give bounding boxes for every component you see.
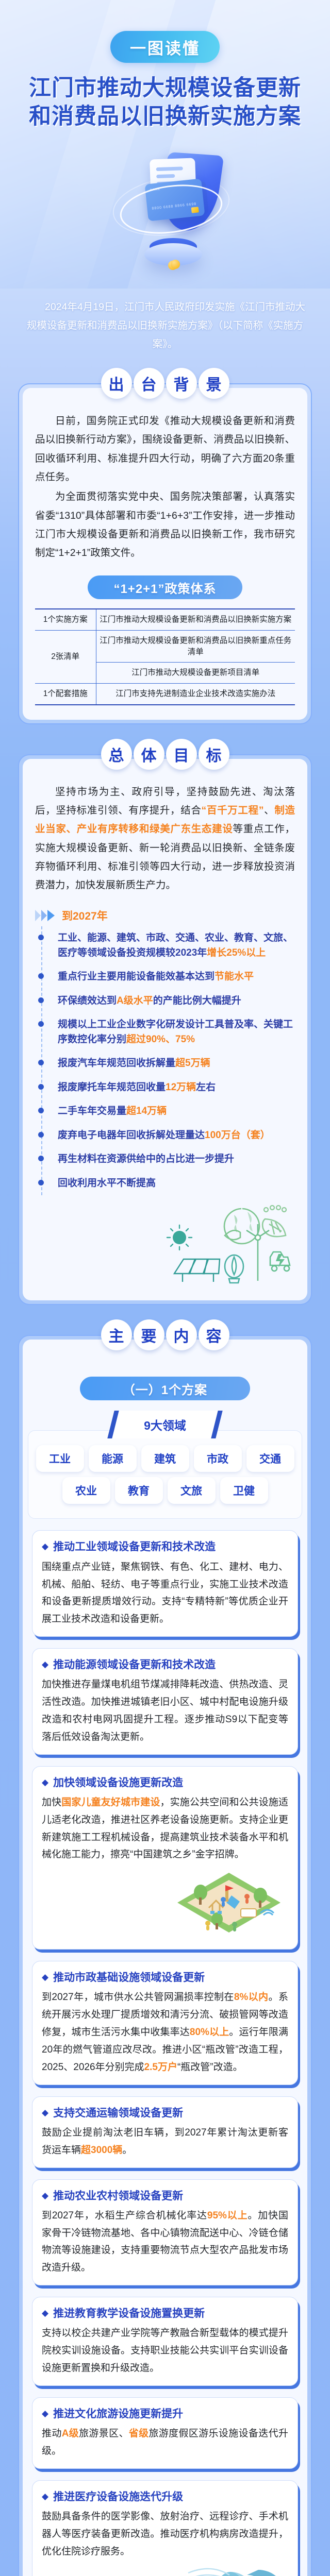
- body-text: 。: [122, 2145, 132, 2156]
- highlight-text: 超14万辆: [126, 1106, 167, 1116]
- task-card: 加快领域设备设施更新改造加快国家儿童友好城市建设，实施公共空间和公共设施适儿适老…: [32, 1766, 298, 1950]
- highlight-text: 8%以内: [234, 1992, 269, 2003]
- task-card: 支持交通运输领域设备更新鼓励企业提前淘汰老旧车辆，到2027年累计淘汰更新客货运…: [32, 2096, 298, 2168]
- nine-domains-banner: 9大领域: [111, 1411, 219, 1438]
- task-card-title: 推进教育教学设备设施置换更新: [42, 2307, 288, 2321]
- table-cell-value: 江门市推动大规模设备更新和消费品以旧换新重点任务清单: [96, 631, 295, 663]
- overall-goal-heading: 总 体 目 标: [18, 739, 312, 770]
- highlight-text: 80%以上: [190, 2027, 229, 2038]
- overall-goal-paragraph: 坚持市场为主、政府引导，坚持鼓励先进、淘汰落后，坚持标准引领、有序提升，结合“百…: [35, 783, 295, 895]
- heading-char: 主: [101, 1319, 132, 1350]
- body-text: 加快推进存量煤电机组节煤减排降耗改造、供热改造、灵活性改造。加快推进城镇老旧小区…: [42, 1679, 288, 1742]
- main-content-heading: 主 要 内 容: [18, 1319, 312, 1350]
- highlight-text: 增长25%以上: [207, 947, 266, 958]
- task-card-title: 加快领域设备设施更新改造: [42, 1776, 288, 1790]
- goal-list-item: 二手车年交易量超14万辆: [56, 1099, 295, 1124]
- goal-list-item: 报废摩托车年规范回收量12万辆左右: [56, 1076, 295, 1100]
- task-card-body: 支持以校企共建产业学院等产教融合新型载体的模式提升院校实训设施设备。支持职业技能…: [42, 2325, 288, 2377]
- body-text: 报废摩托车年规范回收量: [58, 1082, 166, 1093]
- background-section: 出 台 背 景 日前，国务院正式印发《推动大规模设备更新和消费品以旧换新行动方案…: [18, 383, 312, 724]
- body-text: 再生材料在资源供给中的占比进一步提升: [58, 1154, 234, 1164]
- page-title: 江门市推动大规模设备更新 和消费品以旧换新实施方案: [15, 74, 315, 130]
- task-card-body: 加快推进存量煤电机组节煤减排降耗改造、供热改造、灵活性改造。加快推进城镇老旧小区…: [42, 1676, 288, 1745]
- goal-list-item: 重点行业主要用能设备能效基本达到节能水平: [56, 965, 295, 989]
- body-text: 的产能比例大幅提升: [153, 995, 241, 1006]
- body-text: 到2027年，水稻生产综合机械化率达: [42, 2210, 207, 2221]
- heading-char: 目: [166, 739, 197, 770]
- heading-char: 背: [166, 368, 197, 399]
- triple-arrow-icon: [35, 910, 55, 921]
- task-card-title: 推动农业农村领域设备更新: [42, 2189, 288, 2204]
- background-card: 日前，国务院正式印发《推动大规模设备更新和消费品以旧换新行动方案》，围绕设备更新…: [18, 383, 312, 724]
- task-card-title: 推动工业领域设备更新和技术改造: [42, 1540, 288, 1554]
- task-card-title: 推动能源领域设备更新和技术改造: [42, 1658, 288, 1672]
- task-card: 推动能源领域设备更新和技术改造加快推进存量煤电机组节煤减排降耗改造、供热改造、灵…: [32, 1648, 298, 1755]
- body-text: 围绕重点产业链，聚焦钢铁、有色、化工、建材、电力、机械、船舶、轻纺、电子等重点行…: [42, 1562, 288, 1624]
- task-card-title: 推进文化旅游设施更新提升: [42, 2407, 288, 2421]
- domain-tag[interactable]: 市政: [194, 1445, 242, 1472]
- infographic-page: 一图读懂 江门市推动大规模设备更新 和消费品以旧换新实施方案 BANK 8800…: [0, 0, 330, 2576]
- bank-card-shield-illustration: BANK 8800 6688 8866 6698: [101, 147, 240, 286]
- domain-tag[interactable]: 能源: [89, 1445, 137, 1472]
- body-text: 推动: [42, 2428, 62, 2439]
- task-card: 推进教育教学设备设施置换更新支持以校企共建产业学院等产教融合新型载体的模式提升院…: [32, 2297, 298, 2386]
- task-card-body: 围绕重点产业链，聚焦钢铁、有色、化工、建材、电力、机械、船舶、轻纺、电子等重点行…: [42, 1558, 288, 1628]
- heading-char: 总: [101, 739, 132, 770]
- task-card: 推动工业领域设备更新和技术改造围绕重点产业链，聚焦钢铁、有色、化工、建材、电力、…: [32, 1530, 298, 1637]
- domains-row-2: 农业教育文旅卫健: [35, 1477, 295, 1504]
- body-text: 鼓励企业提前淘汰老旧车辆，到2027年累计淘汰更新客货运车辆: [42, 2127, 288, 2156]
- task-card-body: 加快国家儿童友好城市建设，实施公共空间和公共设施适儿适老化改造，推进社区养老设备…: [42, 1794, 288, 1863]
- goal-list-item: 规模以上工业企业数字化研发设计工具普及率、关键工序数控化率分别超过90%、75%: [56, 1013, 295, 1052]
- body-text: 环保绩效达到: [58, 995, 117, 1006]
- green-energy-icon: [164, 1204, 293, 1286]
- task-card-title: 支持交通运输领域设备更新: [42, 2106, 288, 2121]
- heading-char: 出: [101, 368, 132, 399]
- table-cell-key: 1个配套措施: [35, 684, 96, 705]
- domains-row-1: 工业能源建筑市政交通: [35, 1445, 295, 1472]
- highlight-text: A级水平: [117, 995, 153, 1006]
- table-cell-key: 1个实施方案: [35, 609, 96, 630]
- milestone-header: 到2027年: [35, 908, 295, 923]
- coins-icon: [168, 260, 180, 268]
- task-card-body: 到2027年，水稻生产综合机械化率达95%以上。加快国家骨干冷链物流基地、各中心…: [42, 2207, 288, 2277]
- highlight-text: 节能水平: [214, 971, 254, 982]
- heading-char: 内: [166, 1319, 197, 1350]
- body-text: 二手车年交易量: [58, 1106, 126, 1116]
- domain-tag[interactable]: 交通: [246, 1445, 294, 1472]
- domains-box: 工业能源建筑市政交通 农业教育文旅卫健: [28, 1430, 302, 1519]
- task-card-illustration: [42, 1863, 288, 1941]
- eco-illustration: [35, 1198, 295, 1286]
- body-text: “瓶改管”改造。: [177, 2062, 243, 2073]
- table-cell-value: 江门市推动大规模设备更新项目清单: [96, 663, 295, 684]
- goal-list-item: 工业、能源、建筑、市政、交通、农业、教育、文旅、医疗等领域设备投资规模较2023…: [56, 926, 295, 965]
- task-card-body: 鼓励具备条件的医学影像、放射治疗、远程诊疗、手术机器人等医疗装备更新改造。推动医…: [42, 2508, 288, 2560]
- read-in-one-image-badge: 一图读懂: [110, 31, 220, 63]
- body-text: 支持以校企共建产业学院等产教融合新型载体的模式提升院校实训设施设备。支持职业技能…: [42, 2328, 288, 2374]
- task-card-body: 鼓励企业提前淘汰老旧车辆，到2027年累计淘汰更新客货运车辆超3000辆。: [42, 2124, 288, 2159]
- highlight-text: 超过90%、75%: [126, 1034, 195, 1045]
- body-text: 废弃电子电器年回收拆解处理量达: [58, 1130, 205, 1141]
- heading-char: 体: [134, 739, 164, 770]
- task-card: 推进文化旅游设施更新提升推动A级旅游景区、省级旅游度假区游乐设施设备迭代升级。: [32, 2397, 298, 2469]
- highlight-text: A级: [62, 2428, 79, 2439]
- domain-tag[interactable]: 卫健: [220, 1477, 268, 1504]
- domain-tag[interactable]: 建筑: [141, 1445, 189, 1472]
- highlight-text: 省级: [129, 2428, 149, 2439]
- body-text: 报废汽车年规范回收拆解量: [58, 1058, 175, 1069]
- body-text: 左右: [196, 1082, 216, 1093]
- background-paragraph: 为全面贯彻落实党中央、国务院决策部署，认真落实省委“1310”具体部署和市委“1…: [35, 487, 295, 562]
- task-card-body: 推动A级旅游景区、省级旅游度假区游乐设施设备迭代升级。: [42, 2425, 288, 2460]
- highlight-text: 国家儿童友好城市建设: [61, 1797, 160, 1808]
- task-card-body: 到2027年，城市供水公共管网漏损率控制在8%以内。系统开展污水处理厂提质增效和…: [42, 1989, 288, 2076]
- overall-goal-section: 总 体 目 标 坚持市场为主、政府引导，坚持鼓励先进、淘汰落后，坚持标准引领、有…: [18, 754, 312, 1306]
- table-row: 1个配套措施 江门市支持先进制造业企业技术改造实施办法: [35, 684, 295, 705]
- overall-goal-card: 坚持市场为主、政府引导，坚持鼓励先进、淘汰落后，坚持标准引领、有序提升，结合“百…: [18, 754, 312, 1306]
- highlight-text: 12万辆: [166, 1082, 196, 1093]
- body-text: 加快: [42, 1797, 61, 1808]
- goal-list-item: 回收利用水平不断提高: [56, 1172, 295, 1196]
- intro-paragraph: 2024年4月19日，江门市人民政府印发实施《江门市推动大规模设备更新和消费品以…: [21, 298, 309, 353]
- highlight-text: 2.5万户: [144, 2062, 177, 2073]
- domain-tag[interactable]: 工业: [36, 1445, 84, 1472]
- task-card: 推动市政基础设施领域设备更新到2027年，城市供水公共管网漏损率控制在8%以内。…: [32, 1961, 298, 2084]
- section-one-pill: （一）1个方案: [80, 1377, 250, 1400]
- nine-domains-label: 9大领域: [111, 1411, 219, 1438]
- table-row: 2张清单 江门市推动大规模设备更新和消费品以旧换新重点任务清单: [35, 631, 295, 663]
- policy-system-table: 1个实施方案 江门市推动大规模设备更新和消费品以旧换新实施方案 2张清单 江门市…: [35, 608, 295, 705]
- mri-scanner-icon: [170, 2557, 288, 2576]
- domain-tag[interactable]: 文旅: [168, 1477, 216, 1504]
- heading-char: 景: [199, 368, 229, 399]
- main-content-card: （一）1个方案 9大领域 工业能源建筑市政交通 农业教育文旅卫健 推动工业领域设…: [18, 1335, 312, 2576]
- task-cards-list: 推动工业领域设备更新和技术改造围绕重点产业链，聚焦钢铁、有色、化工、建材、电力、…: [28, 1530, 302, 2576]
- body-text: 旅游景区、: [79, 2428, 129, 2439]
- highlight-text: 超5万辆: [175, 1058, 210, 1069]
- heading-char: 要: [134, 1319, 164, 1350]
- page-title-line2: 和消费品以旧换新实施方案: [15, 103, 315, 131]
- domain-tag[interactable]: 农业: [62, 1477, 110, 1504]
- table-cell-key: 2张清单: [35, 631, 96, 684]
- goal-timeline-list: 工业、能源、建筑、市政、交通、农业、教育、文旅、医疗等领域设备投资规模较2023…: [41, 926, 295, 1195]
- domain-tag[interactable]: 教育: [115, 1477, 163, 1504]
- heading-char: 容: [199, 1319, 229, 1350]
- body-text: 、: [263, 805, 274, 816]
- background-paragraph: 日前，国务院正式印发《推动大规模设备更新和消费品以旧换新行动方案》，围绕设备更新…: [35, 412, 295, 486]
- goal-list-item: 环保绩效达到A级水平的产能比例大幅提升: [56, 989, 295, 1013]
- table-cell-value: 江门市支持先进制造业企业技术改造实施办法: [96, 684, 295, 705]
- background-heading: 出 台 背 景: [18, 368, 312, 399]
- heading-char: 标: [199, 739, 229, 770]
- heading-char: 台: [134, 368, 164, 399]
- hero-section: 一图读懂 江门市推动大规模设备更新 和消费品以旧换新实施方案 BANK 8800…: [0, 0, 330, 289]
- highlight-text: 超3000辆: [81, 2145, 122, 2156]
- page-title-line1: 江门市推动大规模设备更新: [15, 74, 315, 103]
- milestone-label: 到2027年: [62, 908, 108, 923]
- body-text: 鼓励具备条件的医学影像、放射治疗、远程诊疗、手术机器人等医疗装备更新改造。推动医…: [42, 2511, 288, 2557]
- body-text: 重点行业主要用能设备能效基本达到: [58, 971, 214, 982]
- playground-icon: [170, 1866, 288, 1943]
- task-card: 推动农业农村领域设备更新到2027年，水稻生产综合机械化率达95%以上。加快国家…: [32, 2179, 298, 2286]
- highlight-text: 100万台（套）: [205, 1130, 270, 1141]
- main-content-section: 主 要 内 容 （一）1个方案 9大领域 工业能源建筑市政交通 农业教育文旅卫健…: [18, 1335, 312, 2576]
- task-card-title: 推动市政基础设施领域设备更新: [42, 1971, 288, 1985]
- body-text: 到2027年，城市供水公共管网漏损率控制在: [42, 1992, 234, 2003]
- policy-system-pill: “1+2+1”政策体系: [88, 575, 242, 599]
- table-cell-value: 江门市推动大规模设备更新和消费品以旧换新实施方案: [96, 609, 295, 630]
- goal-list-item: 报废汽车年规范回收拆解量超5万辆: [56, 1052, 295, 1076]
- badge-label: 一图读懂: [130, 36, 200, 59]
- highlight-text: 95%以上: [207, 2210, 248, 2221]
- table-row: 1个实施方案 江门市推动大规模设备更新和消费品以旧换新实施方案: [35, 609, 295, 630]
- task-card-title: 推进医疗设备设施迭代升级: [42, 2490, 288, 2504]
- highlight-text: “百千万工程”: [202, 805, 264, 816]
- goal-list-item: 废弃电子电器年回收拆解处理量达100万台（套）: [56, 1124, 295, 1148]
- goal-list-item: 再生材料在资源供给中的占比进一步提升: [56, 1147, 295, 1172]
- body-text: 回收利用水平不断提高: [58, 1178, 156, 1189]
- task-card-illustration: [42, 2561, 288, 2576]
- task-card: 推进医疗设备设施迭代升级鼓励具备条件的医学影像、放射治疗、远程诊疗、手术机器人等…: [32, 2480, 298, 2576]
